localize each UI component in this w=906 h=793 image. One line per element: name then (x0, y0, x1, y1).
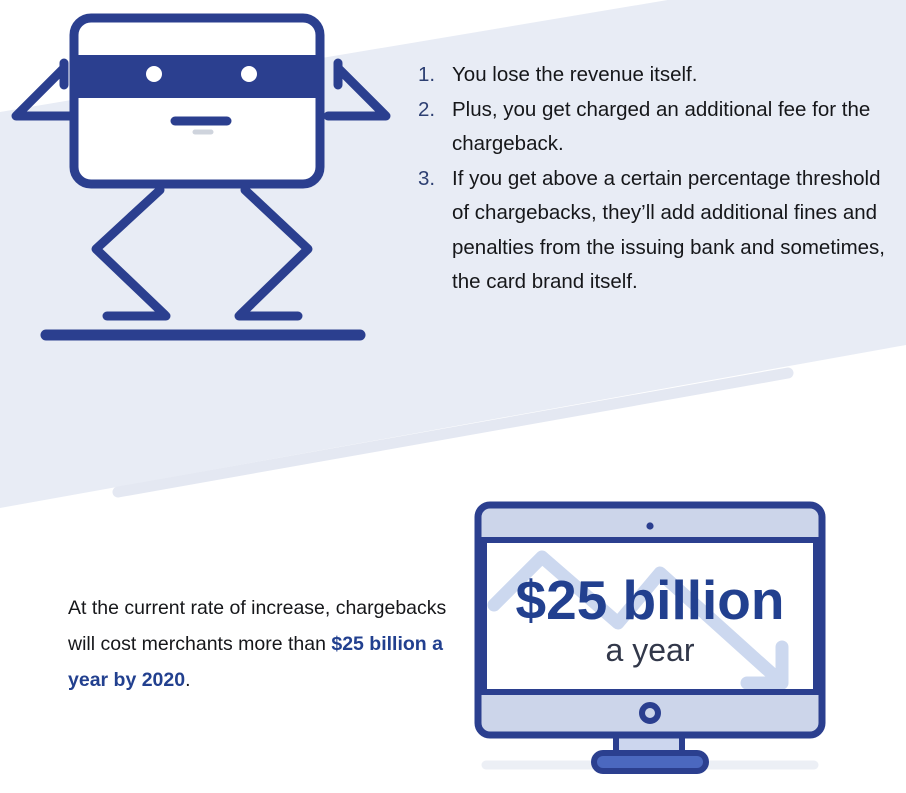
card-body (74, 18, 320, 184)
chargeback-consequences-list: 1. You lose the revenue itself. 2. Plus,… (418, 58, 888, 300)
screen-headline: $25 billion (516, 569, 785, 631)
card-magnetic-stripe (74, 55, 320, 98)
list-item-text: If you get above a certain percentage th… (452, 162, 888, 300)
arm-left (16, 63, 74, 116)
leg-right (240, 190, 308, 315)
monitor-stand-base (594, 753, 706, 771)
desktop-monitor-illustration: $25 billion a year (470, 495, 830, 793)
list-item-text: You lose the revenue itself. (452, 58, 888, 93)
screen-subline: a year (606, 632, 695, 668)
eye-dot-left (146, 66, 162, 82)
camera-dot-icon (646, 522, 653, 529)
list-item-marker: 1. (418, 58, 452, 93)
power-button-icon[interactable] (642, 705, 658, 721)
list-item: 3. If you get above a certain percentage… (418, 162, 888, 300)
infographic-canvas: 1. You lose the revenue itself. 2. Plus,… (0, 0, 906, 793)
leg-left (96, 190, 165, 315)
list-item: 1. You lose the revenue itself. (418, 58, 888, 93)
list-item: 2. Plus, you get charged an additional f… (418, 93, 888, 162)
cost-statement: At the current rate of increase, chargeb… (68, 590, 468, 698)
arm-right (328, 63, 386, 116)
card-legs (96, 190, 308, 316)
statement-trail: . (185, 669, 190, 691)
credit-card-character (0, 0, 400, 360)
eye-dot-right (241, 66, 257, 82)
list-item-marker: 3. (418, 162, 452, 197)
list-item-text: Plus, you get charged an additional fee … (452, 93, 888, 162)
list-item-marker: 2. (418, 93, 452, 128)
